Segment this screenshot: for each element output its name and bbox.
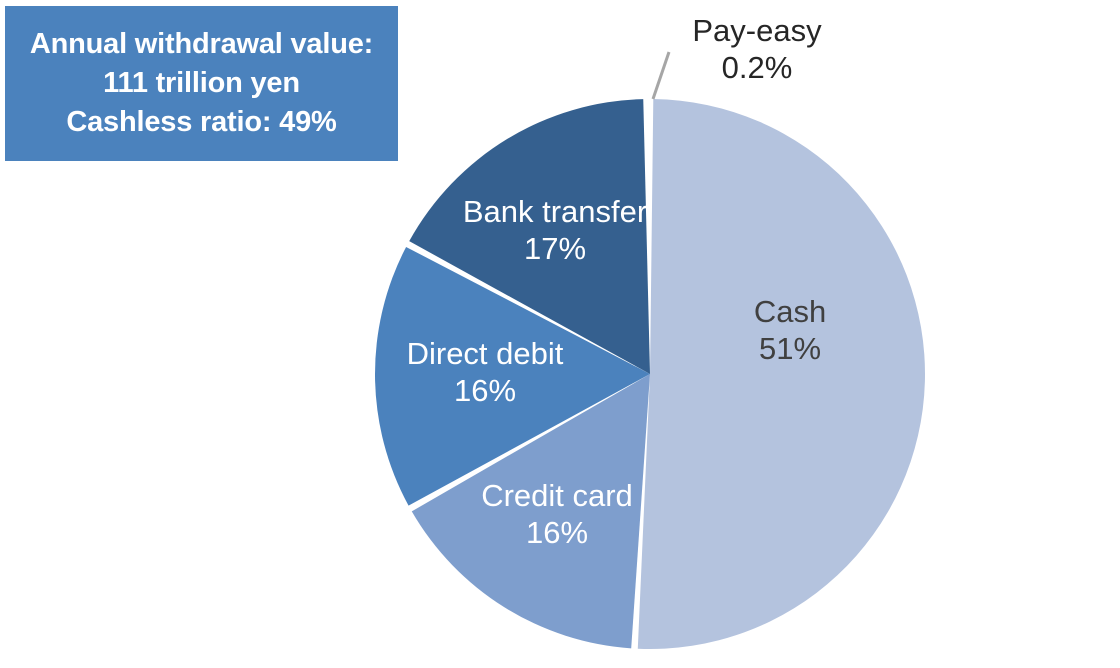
pie-slice-cash[interactable] [638, 99, 925, 649]
pay-easy-leader-line [653, 52, 669, 99]
pie-chart-figure: Annual withdrawal value: 111 trillion ye… [0, 0, 1120, 668]
pie-leader-line-group [653, 52, 669, 99]
pie-slice-group [375, 99, 925, 649]
pie-svg [0, 0, 1120, 668]
